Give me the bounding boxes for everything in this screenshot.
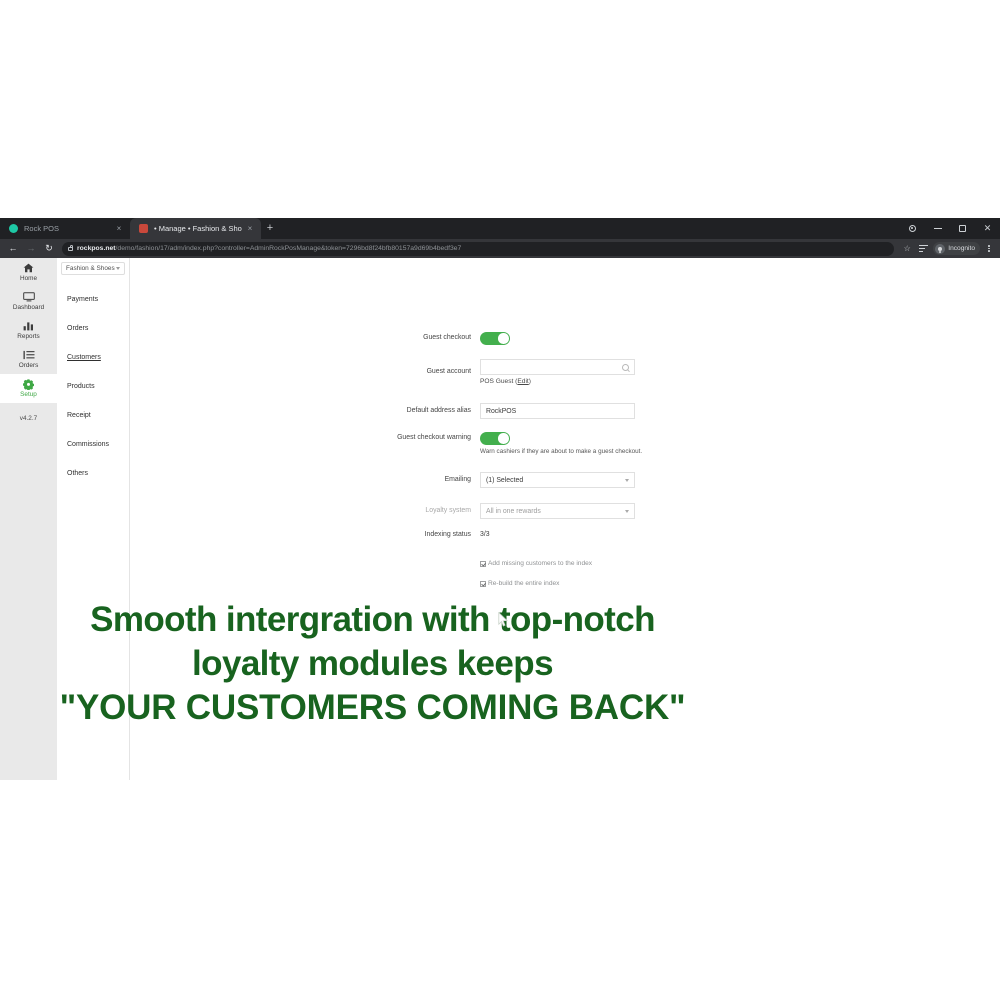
toggle-knob (498, 433, 509, 444)
subnav-item-orders[interactable]: Orders (57, 314, 129, 343)
browser-tab-strip: Rock POS × • Manage • Fashion & Shoes × … (0, 218, 1000, 239)
field-indexing-status: Indexing status 3/3 (260, 529, 490, 540)
sidebar-item-label: Home (20, 275, 37, 282)
mouse-cursor-icon (498, 612, 508, 627)
field-control: 3/3 (480, 529, 490, 540)
secondary-sidebar-list: Payments Orders Customers Products Recei… (57, 285, 129, 488)
input-value: RockPOS (486, 408, 629, 415)
url-host: rockpos.net (77, 245, 116, 252)
close-window-icon[interactable]: ✕ (975, 218, 1000, 239)
field-label: Loyalty system (260, 503, 480, 519)
search-icon[interactable] (622, 364, 629, 371)
maximize-icon[interactable] (950, 218, 975, 239)
incognito-avatar-icon (935, 244, 945, 254)
browser-menu-icon[interactable] (982, 239, 996, 258)
field-guest-checkout-warning: Guest checkout warning Warn cashiers if … (260, 432, 642, 455)
chevron-down-icon (625, 479, 629, 482)
checkbox-add-missing-customers[interactable]: Add missing customers to the index (480, 560, 592, 567)
list-icon (23, 350, 35, 361)
field-label: Emailing (260, 472, 480, 488)
field-label: Default address alias (260, 403, 480, 419)
chevron-down-icon (116, 267, 120, 270)
address-bar[interactable]: rockpos.net/demo/fashion/17/adm/index.ph… (62, 242, 894, 256)
indexing-status-value: 3/3 (480, 529, 490, 540)
url-text: rockpos.net/demo/fashion/17/adm/index.ph… (77, 245, 461, 252)
field-label: Guest checkout (260, 332, 480, 343)
chevron-down-icon (625, 510, 629, 513)
promo-line-3: "YOUR CUSTOMERS COMING BACK" (0, 686, 745, 730)
browser-tab-manage-fashion-shoes[interactable]: • Manage • Fashion & Shoes × (130, 218, 261, 239)
checkbox-rebuild-entire-index[interactable]: Re-build the entire index (480, 580, 559, 587)
incognito-label: Incognito (948, 245, 975, 252)
field-control: (1) Selected (480, 472, 635, 488)
field-control: POS Guest (Edit) (480, 359, 635, 385)
field-control (480, 332, 510, 345)
prestashop-favicon-icon (139, 224, 148, 233)
toggle-knob (498, 333, 509, 344)
field-label: Guest account (260, 359, 480, 385)
field-guest-checkout: Guest checkout (260, 332, 510, 345)
checkbox-label: Add missing customers to the index (488, 560, 592, 567)
select-value: (1) Selected (486, 477, 523, 484)
field-control: All in one rewards (480, 503, 635, 519)
subnav-item-label: Receipt (67, 412, 91, 419)
sidebar-item-dashboard[interactable]: Dashboard (0, 287, 57, 316)
browser-tab-rock-pos[interactable]: Rock POS × (0, 218, 130, 239)
rock-pos-favicon-icon (9, 224, 18, 233)
subnav-item-label: Others (67, 470, 88, 477)
window-controls: ✕ (900, 218, 1000, 239)
field-label: Guest checkout warning (260, 432, 480, 443)
shop-selector-value: Fashion & Shoes (66, 265, 115, 272)
field-default-address-alias: Default address alias RockPOS (260, 403, 635, 419)
subnav-item-products[interactable]: Products (57, 372, 129, 401)
toolbar-actions: ☆ Incognito (899, 239, 996, 258)
app-version: v4.2.7 (0, 415, 57, 422)
checkbox-icon[interactable] (480, 581, 486, 587)
field-control: RockPOS (480, 403, 635, 419)
subnav-item-label: Customers (67, 354, 101, 361)
guest-account-search-input[interactable] (480, 359, 635, 375)
browser-toolbar: ← → ↻ rockpos.net/demo/fashion/17/adm/in… (0, 239, 1000, 258)
guest-checkout-warning-helper: Warn cashiers if they are about to make … (480, 448, 642, 455)
sidebar-item-label: Setup (20, 391, 37, 398)
tab-title: • Manage • Fashion & Shoes (154, 224, 242, 233)
sidebar-item-setup[interactable]: Setup (0, 374, 57, 403)
subnav-item-payments[interactable]: Payments (57, 285, 129, 314)
close-icon[interactable]: × (114, 224, 124, 234)
subnav-item-commissions[interactable]: Commissions (57, 430, 129, 459)
promo-headline: Smooth intergration with top-notch loyal… (0, 598, 745, 730)
profile-dot-icon[interactable] (900, 218, 925, 239)
monitor-icon (23, 292, 35, 303)
reading-list-icon[interactable] (915, 239, 931, 258)
guest-checkout-warning-toggle[interactable] (480, 432, 510, 445)
bookmark-star-icon[interactable]: ☆ (899, 239, 915, 258)
sidebar-item-orders[interactable]: Orders (0, 345, 57, 374)
shop-selector[interactable]: Fashion & Shoes (61, 262, 125, 275)
home-icon (23, 263, 34, 274)
field-emailing: Emailing (1) Selected (260, 472, 635, 488)
close-icon[interactable]: × (245, 224, 255, 234)
url-path: /demo/fashion/17/adm/index.php?controlle… (116, 245, 462, 252)
subnav-item-label: Commissions (67, 441, 109, 448)
gear-icon (23, 379, 34, 390)
loyalty-system-select[interactable]: All in one rewards (480, 503, 635, 519)
hint-prefix: POS Guest ( (480, 378, 517, 385)
default-address-alias-input[interactable]: RockPOS (480, 403, 635, 419)
sidebar-item-label: Dashboard (13, 304, 44, 311)
minimize-icon[interactable] (925, 218, 950, 239)
sidebar-item-label: Orders (19, 362, 39, 369)
field-loyalty-system: Loyalty system All in one rewards (260, 503, 635, 519)
guest-account-edit-link[interactable]: Edit (517, 378, 528, 385)
screenshot-canvas: Rock POS × • Manage • Fashion & Shoes × … (0, 0, 1000, 1000)
subnav-item-customers[interactable]: Customers (57, 343, 129, 372)
emailing-select[interactable]: (1) Selected (480, 472, 635, 488)
field-guest-account: Guest account POS Guest (Edit) (260, 359, 635, 385)
subnav-item-label: Payments (67, 296, 98, 303)
sidebar-item-label: Reports (17, 333, 39, 340)
subnav-item-others[interactable]: Others (57, 459, 129, 488)
checkbox-icon[interactable] (480, 561, 486, 567)
checkbox-label: Re-build the entire index (488, 580, 559, 587)
sidebar-item-home[interactable]: Home (0, 258, 57, 287)
tab-title: Rock POS (24, 224, 111, 233)
guest-account-hint: POS Guest (Edit) (480, 378, 635, 385)
promo-line-1: Smooth intergration with top-notch (0, 598, 745, 642)
back-icon[interactable]: ← (4, 239, 22, 258)
guest-checkout-toggle[interactable] (480, 332, 510, 345)
subnav-item-label: Orders (67, 325, 88, 332)
bar-chart-icon (23, 321, 34, 332)
field-label: Indexing status (260, 529, 480, 540)
sidebar-item-reports[interactable]: Reports (0, 316, 57, 345)
incognito-indicator[interactable]: Incognito (933, 242, 980, 255)
field-control: Warn cashiers if they are about to make … (480, 432, 642, 455)
select-value: All in one rewards (486, 508, 541, 515)
hint-suffix: ) (529, 378, 531, 385)
reload-icon[interactable]: ↻ (40, 239, 58, 258)
forward-icon[interactable]: → (22, 239, 40, 258)
new-tab-button[interactable]: + (261, 218, 279, 239)
subnav-item-receipt[interactable]: Receipt (57, 401, 129, 430)
subnav-item-label: Products (67, 383, 95, 390)
site-info-lock-icon[interactable] (68, 247, 73, 251)
promo-line-2: loyalty modules keeps (0, 642, 745, 686)
